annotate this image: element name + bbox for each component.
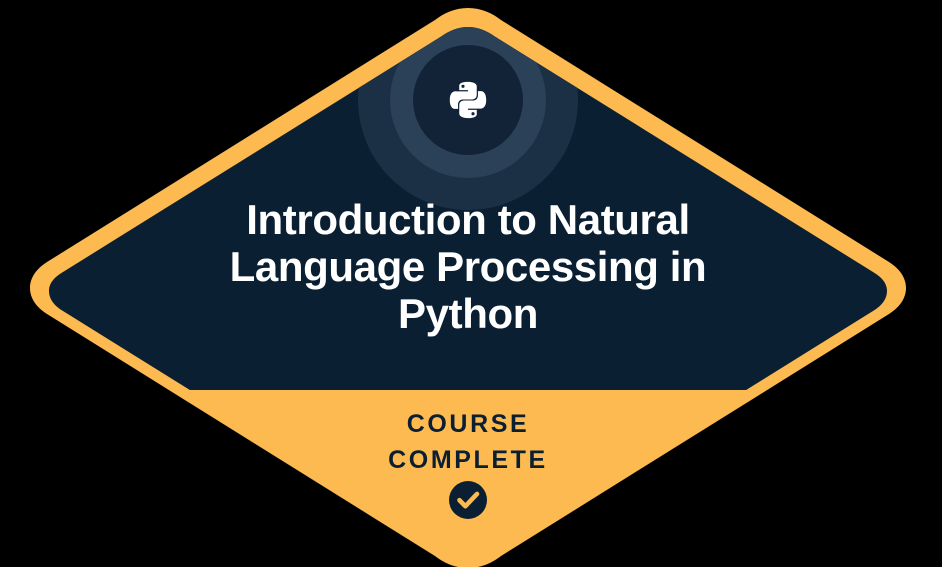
course-completion-badge: Introduction to Natural Language Process… [0, 0, 942, 567]
check-circle-background [449, 481, 487, 519]
icon-disc [413, 45, 523, 155]
check-circle-icon [449, 481, 487, 519]
badge-graphic [0, 0, 942, 567]
